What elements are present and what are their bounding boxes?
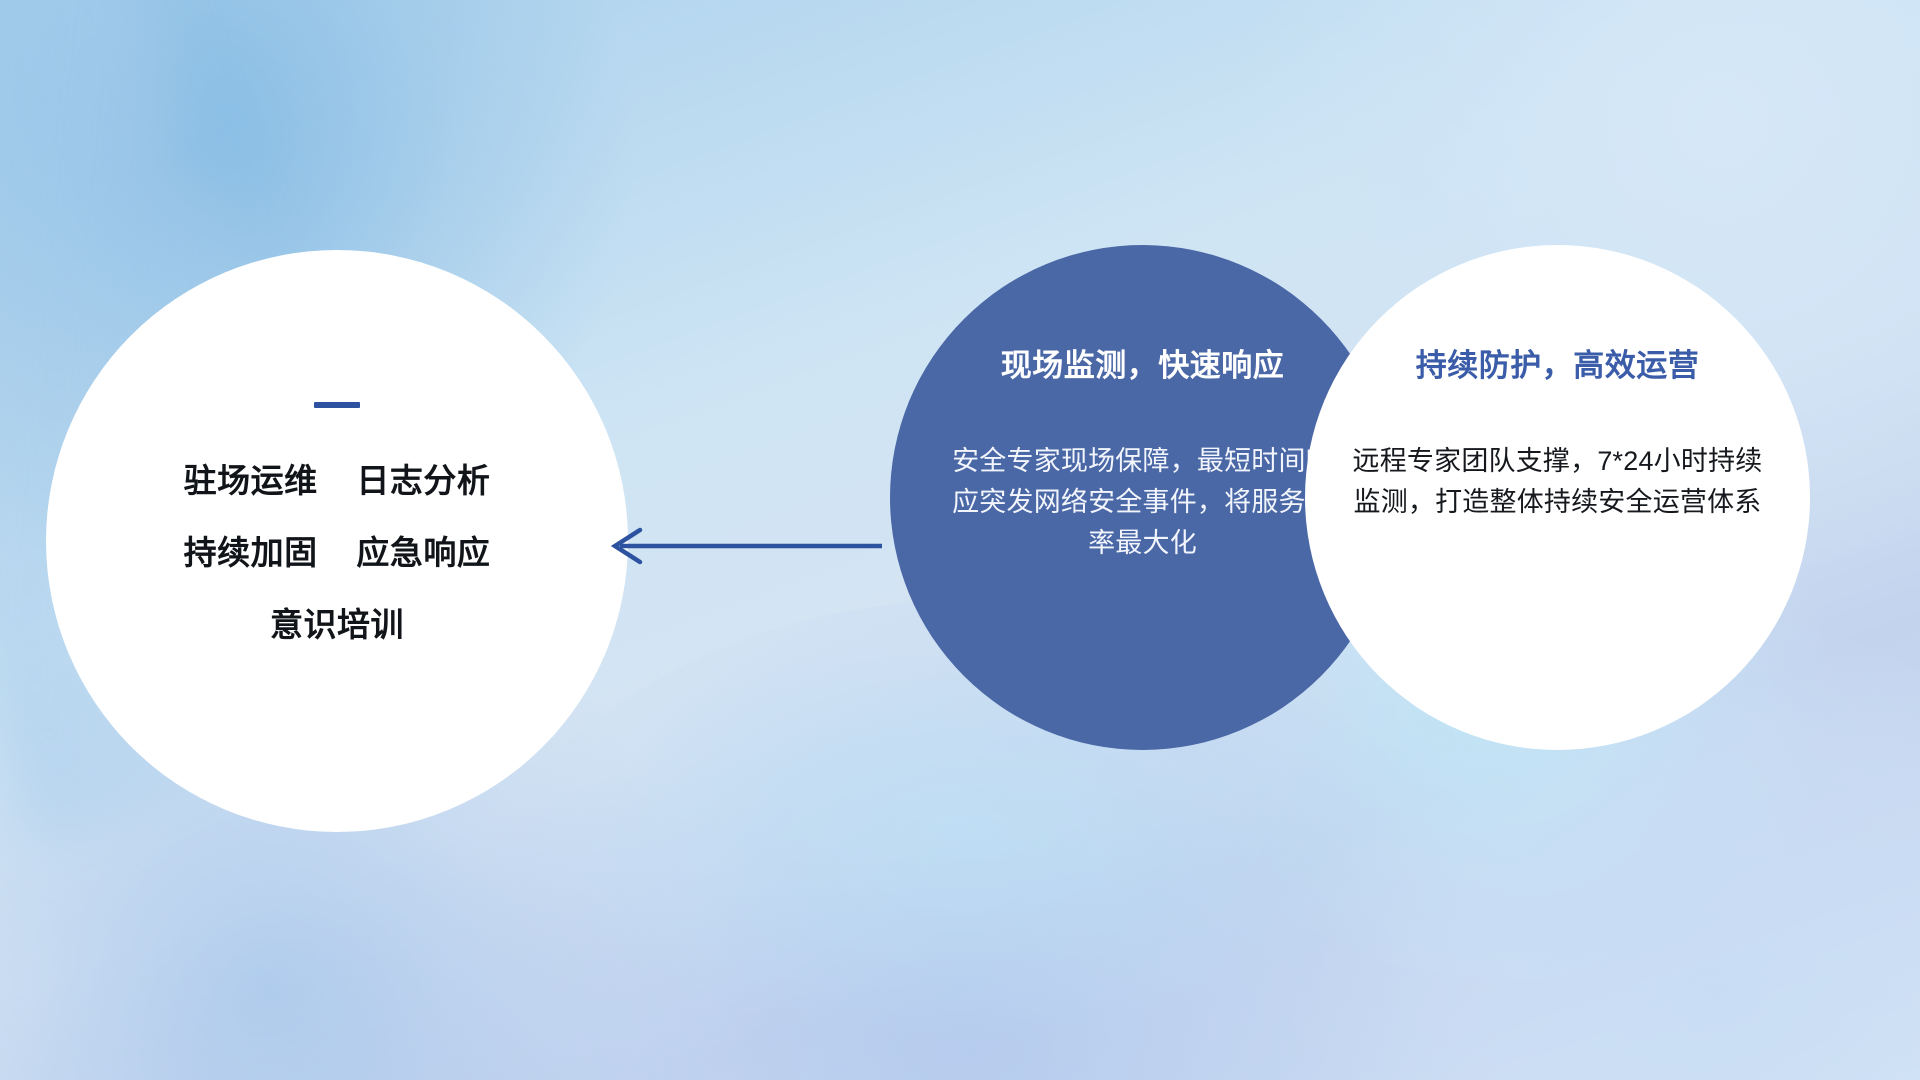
capability-line-3: 意识培训: [46, 608, 628, 641]
right-circle-content: 持续防护，高效运营 远程专家团队支撑，7*24小时持续监测，打造整体持续安全运营…: [1305, 349, 1810, 523]
capability-line-2: 持续加固 应急响应: [46, 536, 628, 569]
slide-canvas: 驻场运维 日志分析 持续加固 应急响应 意识培训 现场监测，快速响应 安全专家现…: [0, 0, 1920, 1080]
continuous-protection-body: 远程专家团队支撑，7*24小时持续监测，打造整体持续安全运营体系: [1305, 441, 1810, 523]
continuous-protection-title: 持续防护，高效运营: [1305, 349, 1810, 383]
left-arrow-icon: [596, 516, 886, 576]
left-capabilities-circle[interactable]: 驻场运维 日志分析 持续加固 应急响应 意识培训: [46, 250, 628, 832]
continuous-protection-circle[interactable]: 持续防护，高效运营 远程专家团队支撑，7*24小时持续监测，打造整体持续安全运营…: [1305, 245, 1810, 750]
left-circle-content: 驻场运维 日志分析 持续加固 应急响应 意识培训: [46, 402, 628, 641]
divider-dash-icon: [314, 402, 360, 408]
capability-line-1: 驻场运维 日志分析: [46, 464, 628, 497]
